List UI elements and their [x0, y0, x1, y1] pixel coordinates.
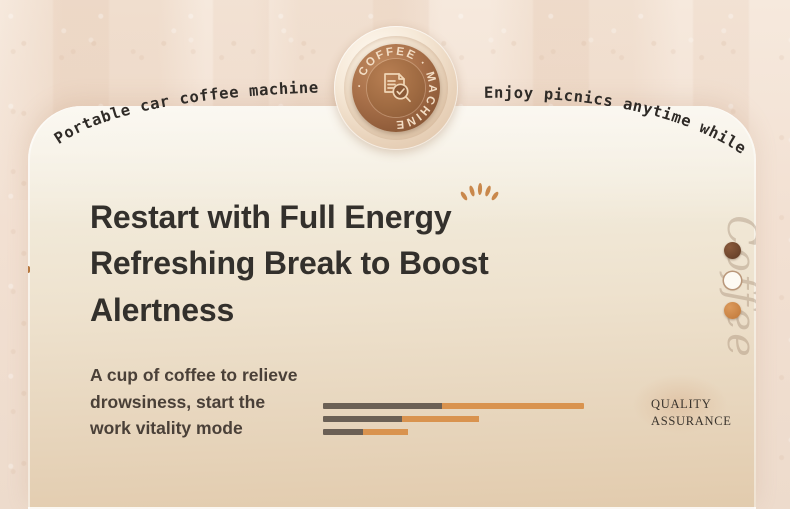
subtitle-line-1: A cup of coffee to relieve — [90, 362, 390, 389]
bar-segment-dark — [323, 429, 363, 435]
quality-assurance-label: QUALITY ASSURANCE — [651, 396, 732, 431]
bar-segment-orange — [363, 429, 408, 435]
quality-line-1: QUALITY — [651, 396, 732, 413]
script-decoration: Coffee — [700, 198, 756, 388]
decorative-bar — [323, 416, 584, 422]
badge-outer-ring: · COFFEE · MACHINE — [344, 36, 448, 140]
color-swatch-cream — [724, 272, 741, 289]
promo-card: Restart with Full Energy Refreshing Brea… — [28, 106, 756, 509]
badge-inner-circle — [367, 59, 425, 117]
badge-disc: · COFFEE · MACHINE — [352, 44, 440, 132]
quality-line-2: ASSURANCE — [651, 413, 732, 430]
headline-dash-marker — [28, 266, 30, 273]
headline-line-2: Refreshing Break to Boost — [90, 240, 650, 286]
bar-segment-orange — [402, 416, 479, 422]
page-title: Restart with Full Energy Refreshing Brea… — [90, 194, 650, 333]
headline-line-1: Restart with Full Energy — [90, 194, 650, 240]
color-swatch-dark-roast — [724, 242, 741, 259]
color-swatches — [724, 242, 741, 332]
bar-segment-dark — [323, 416, 402, 422]
decorative-bar — [323, 429, 584, 435]
bar-segment-orange — [442, 403, 584, 409]
sparkle-burst-icon — [459, 180, 499, 206]
bar-segment-dark — [323, 403, 442, 409]
document-magnifier-icon — [377, 69, 415, 107]
color-swatch-caramel — [724, 302, 741, 319]
decorative-bars — [323, 403, 584, 442]
coffee-machine-badge: · COFFEE · MACHINE — [334, 26, 458, 150]
decorative-bar — [323, 403, 584, 409]
headline-line-3: Alertness — [90, 287, 650, 333]
